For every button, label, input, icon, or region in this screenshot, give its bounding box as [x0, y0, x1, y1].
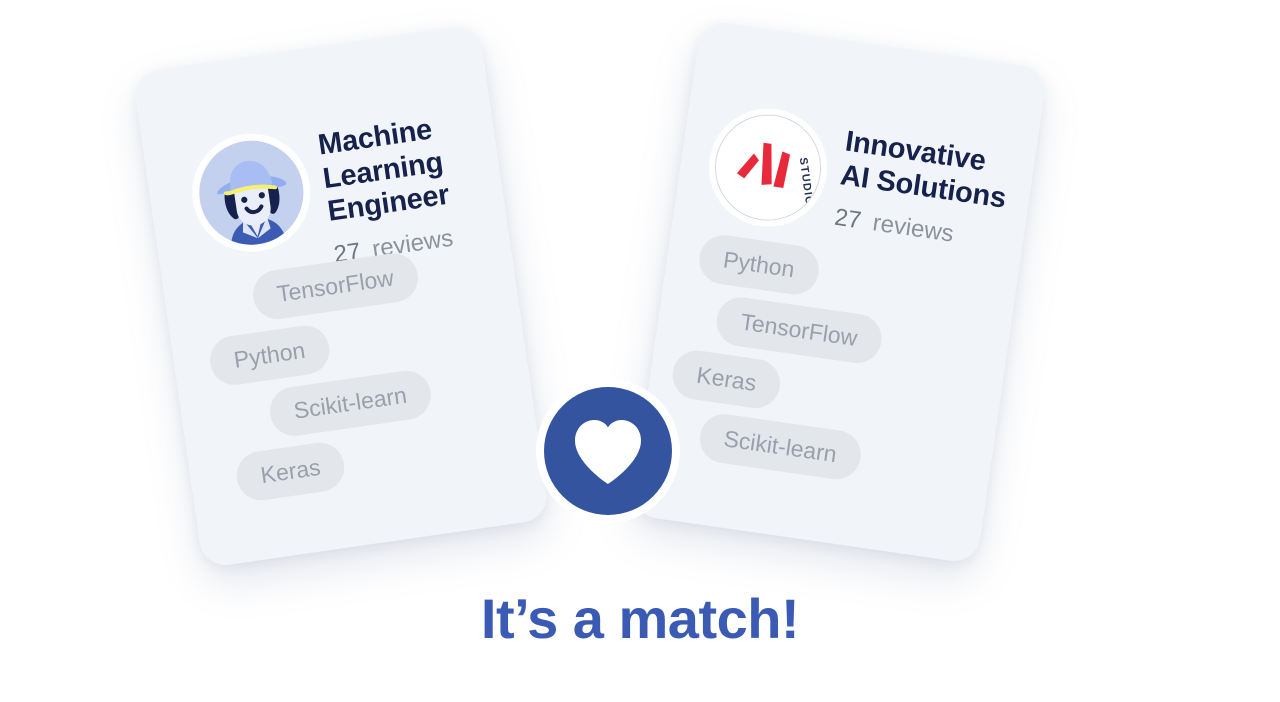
heart-icon — [571, 416, 645, 486]
candidate-title: Machine Learning Engineer — [316, 105, 505, 230]
company-logo: STUDIO — [701, 101, 835, 235]
heart-circle — [544, 387, 672, 515]
tag-python[interactable]: Python — [696, 232, 821, 298]
person-avatar-with-hat-icon — [192, 134, 310, 252]
candidate-skill-tags: TensorFlow Python Scikit-learn Keras — [198, 240, 519, 515]
tag-scikit-learn[interactable]: Scikit-learn — [697, 411, 864, 483]
candidate-card[interactable]: Machine Learning Engineer 27 reviews Ten… — [132, 24, 550, 569]
tag-tensorflow[interactable]: TensorFlow — [713, 294, 884, 366]
company-title: Innovative AI Solutions — [838, 126, 1013, 216]
company-head-text: Innovative AI Solutions 27 reviews — [833, 120, 1014, 256]
tag-keras[interactable]: Keras — [669, 347, 783, 411]
company-reviews-label: reviews — [871, 210, 956, 249]
match-heart-badge[interactable] — [536, 379, 680, 523]
company-skill-tags: Python TensorFlow Keras Scikit-learn — [660, 231, 991, 507]
tag-keras[interactable]: Keras — [234, 440, 348, 504]
company-reviews-count: 27 — [833, 204, 863, 236]
avatar — [185, 126, 319, 260]
ai-studio-logo-icon: STUDIO — [708, 108, 828, 228]
company-card-header: STUDIO Innovative AI Solutions 27 review… — [701, 101, 1014, 260]
tag-python[interactable]: Python — [207, 323, 332, 389]
company-card[interactable]: STUDIO Innovative AI Solutions 27 review… — [630, 20, 1048, 565]
match-caption: It’s a match! — [0, 586, 1280, 651]
tag-scikit-learn[interactable]: Scikit-learn — [267, 367, 434, 439]
match-illustration: Machine Learning Engineer 27 reviews Ten… — [0, 0, 1280, 702]
